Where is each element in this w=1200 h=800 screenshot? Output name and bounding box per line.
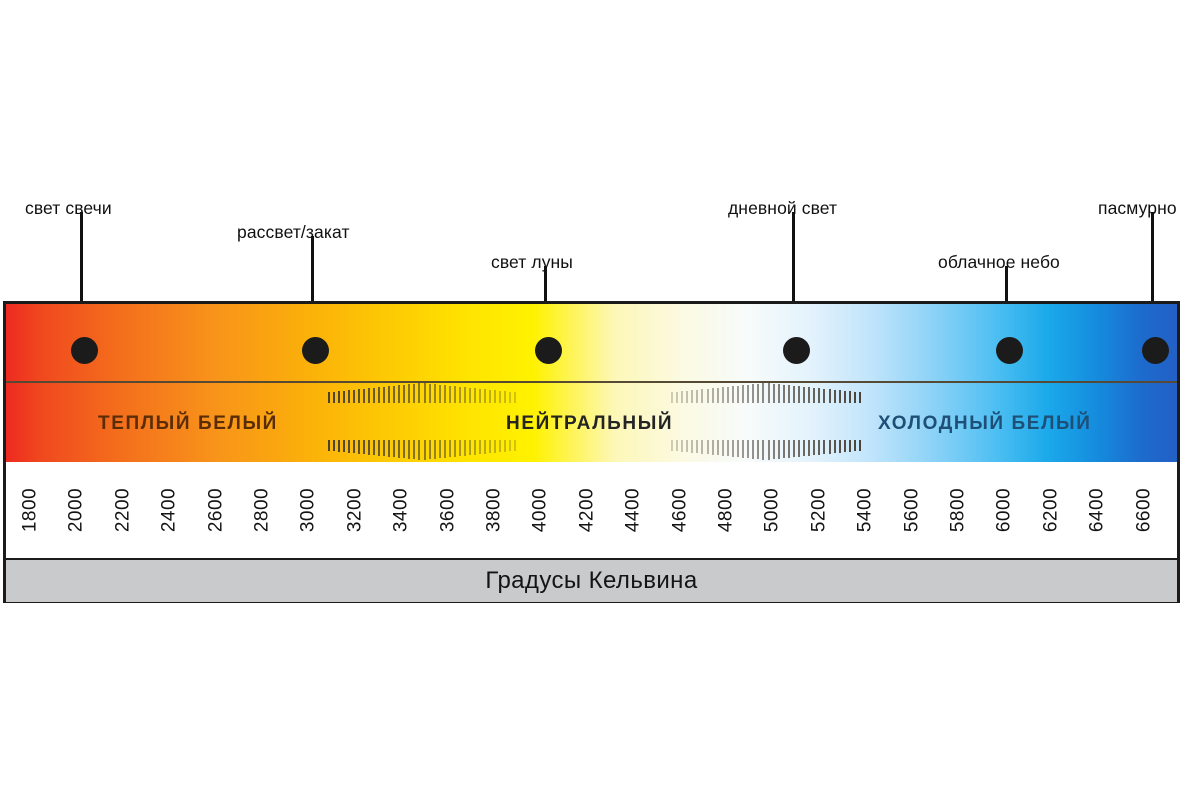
kelvin-tick-3200: 3200 — [345, 488, 364, 532]
kelvin-tick-4400: 4400 — [624, 488, 643, 532]
ruler-neutral-cold-top — [671, 381, 861, 403]
kelvin-tick-2600: 2600 — [206, 488, 225, 532]
band-label-neutral: НЕЙТРАЛЬНЫЙ — [506, 414, 673, 433]
kelvin-tick-4200: 4200 — [577, 488, 596, 532]
chart-frame: ТЕПЛЫЙ БЕЛЫЙ НЕЙТРАЛЬНЫЙ ХОЛОДНЫЙ БЕЛЫЙ … — [3, 301, 1180, 603]
caption-label: Градусы Кельвина — [485, 567, 697, 595]
kelvin-tick-3400: 3400 — [392, 488, 411, 532]
callout-label-0: свет свечи — [25, 200, 112, 218]
ruler-neutral-cold-bottom — [671, 440, 861, 462]
marker-dot-4000k — [535, 337, 562, 364]
kelvin-tick-5600: 5600 — [902, 488, 921, 532]
kelvin-tick-4600: 4600 — [670, 488, 689, 532]
kelvin-tick-3000: 3000 — [299, 488, 318, 532]
kelvin-tick-4000: 4000 — [531, 488, 550, 532]
kelvin-tick-4800: 4800 — [717, 488, 736, 532]
kelvin-tick-label-strip: 1800200022002400260028003000320034003600… — [6, 462, 1177, 558]
kelvin-tick-5800: 5800 — [949, 488, 968, 532]
kelvin-tick-5200: 5200 — [809, 488, 828, 532]
band-label-cold-white: ХОЛОДНЫЙ БЕЛЫЙ — [878, 414, 1091, 433]
ruler-warm-neutral-top — [328, 381, 516, 403]
callout-label-3: дневной свет — [728, 200, 837, 218]
gradient-bar: ТЕПЛЫЙ БЕЛЫЙ НЕЙТРАЛЬНЫЙ ХОЛОДНЫЙ БЕЛЫЙ — [6, 304, 1177, 462]
kelvin-tick-5000: 5000 — [763, 488, 782, 532]
kelvin-tick-2000: 2000 — [67, 488, 86, 532]
caption-bar: Градусы Кельвина — [6, 558, 1177, 602]
band-label-warm-white: ТЕПЛЫЙ БЕЛЫЙ — [98, 414, 278, 433]
marker-dot-2000k — [71, 337, 98, 364]
kelvin-tick-5400: 5400 — [856, 488, 875, 532]
kelvin-tick-6000: 6000 — [995, 488, 1014, 532]
callout-label-1: рассвет/закат — [237, 224, 350, 242]
marker-dot-6000k — [996, 337, 1023, 364]
kelvin-tick-6200: 6200 — [1041, 488, 1060, 532]
callout-label-5: пасмурно — [1098, 200, 1177, 218]
kelvin-tick-6600: 6600 — [1134, 488, 1153, 532]
kelvin-tick-2800: 2800 — [253, 488, 272, 532]
kelvin-tick-1800: 1800 — [21, 488, 40, 532]
kelvin-tick-3800: 3800 — [485, 488, 504, 532]
marker-dot-3000k — [302, 337, 329, 364]
kelvin-tick-3600: 3600 — [438, 488, 457, 532]
color-temperature-chart: свет свечирассвет/закатсвет луныдневной … — [0, 0, 1200, 800]
marker-dot-5000k — [783, 337, 810, 364]
kelvin-tick-6400: 6400 — [1088, 488, 1107, 532]
kelvin-tick-2400: 2400 — [160, 488, 179, 532]
callout-label-2: свет луны — [491, 254, 573, 272]
marker-dot-6600k — [1142, 337, 1169, 364]
callout-label-4: облачное небо — [938, 254, 1060, 272]
kelvin-tick-2200: 2200 — [113, 488, 132, 532]
ruler-warm-neutral-bottom — [328, 440, 516, 462]
